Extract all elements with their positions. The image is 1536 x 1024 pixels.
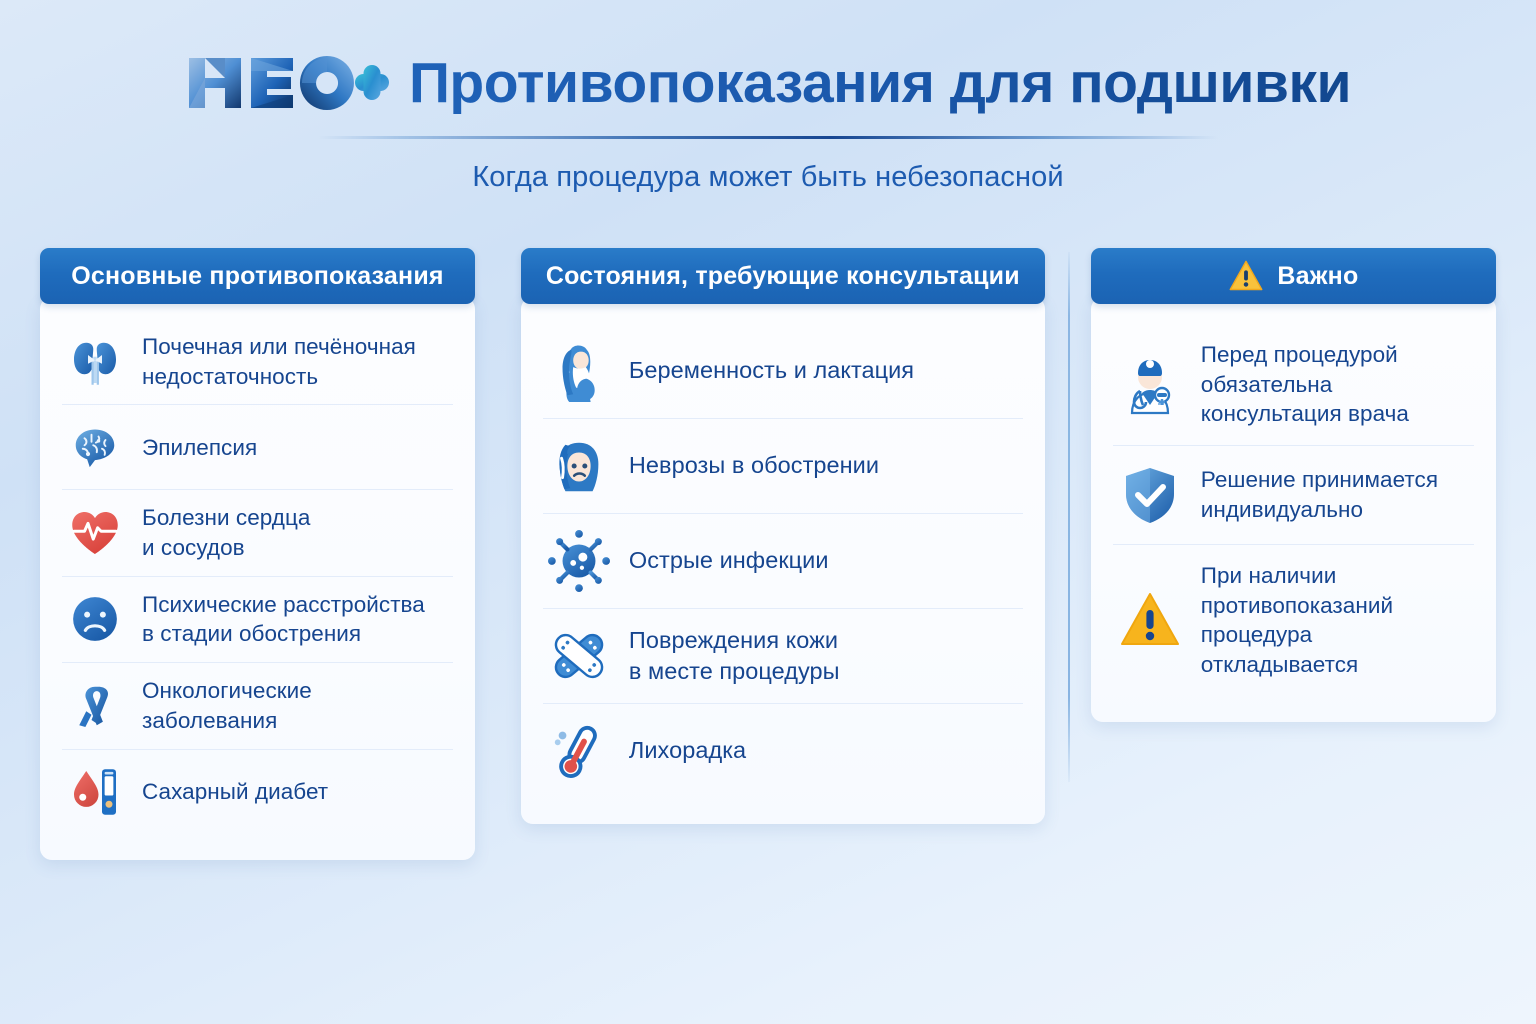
list-item[interactable]: Острые инфекции [543,514,1023,609]
list-item[interactable]: Онкологические заболевания [62,663,453,749]
warning-triangle-icon [1228,258,1264,294]
list-item-label: Перед процедурой обязательна консультаци… [1201,340,1470,429]
doctor-icon [1117,352,1183,418]
list-item[interactable]: Сахарный диабет [62,750,453,834]
list-item-label: При наличии противопоказаний процедура о… [1201,561,1470,680]
list-item-label: Повреждения кожив месте процедуры [629,625,840,687]
card-title-conditions: Состояния, требующие консультации [546,262,1020,291]
list-item-label: Сахарный диабет [142,777,328,807]
virus-icon [547,529,611,593]
card-header-important: Важно [1091,248,1496,304]
blood-drop-glucometer-icon [66,763,124,821]
sad-face-icon [66,590,124,648]
list-item-label: Беременность и лактация [629,355,914,386]
pregnant-woman-icon [547,339,611,403]
list-item[interactable]: Перед процедурой обязательна консультаци… [1113,324,1474,446]
neo-plus-logo [185,53,389,113]
warning-triangle-icon [1117,587,1183,653]
title-divider [318,136,1218,139]
list-item[interactable]: Повреждения кожив месте процедуры [543,609,1023,704]
list-item[interactable]: Болезни сердцаи сосудов [62,490,453,576]
shield-check-icon [1117,462,1183,528]
card-body-conditions: Беременность и лактация Неврозы в обостр… [521,297,1045,824]
brain-icon [66,418,124,476]
card-title-main: Основные противопоказания [71,262,443,291]
page-title: Противопоказания для подшивки [409,50,1351,116]
list-item-label: Лихорадка [629,735,746,766]
list-item-label: Неврозы в обострении [629,450,879,481]
list-item[interactable]: Неврозы в обострении [543,419,1023,514]
card-body-important: Перед процедурой обязательна консультаци… [1091,297,1496,722]
list-item-label: Решение принимаетсяиндивидуально [1201,465,1438,524]
list-item[interactable]: Лихорадка [543,704,1023,798]
awareness-ribbon-icon [66,677,124,735]
list-item-label: Эпилепсия [142,433,257,463]
bandage-icon [547,624,611,688]
card-title-important: Важно [1277,262,1358,291]
list-item-label: Почечная или печёночная недостаточность [142,332,449,391]
column-gap-2 [1045,248,1091,860]
page-subtitle: Когда процедура может быть небезопасной [0,161,1536,194]
sad-woman-icon [547,434,611,498]
card-conditions-requiring-consultation: Состояния, требующие консультации Береме… [521,248,1045,824]
list-item[interactable]: Почечная или печёночная недостаточность [62,319,453,405]
heart-pulse-icon [66,504,124,562]
card-header-main: Основные противопоказания [40,248,475,304]
list-item-label: Онкологические заболевания [142,676,449,735]
card-body-main: Почечная или печёночная недостаточность … [40,297,475,860]
title-row: Противопоказания для подшивки [0,44,1536,122]
list-item[interactable]: Психические расстройствав стадии обостре… [62,577,453,663]
list-item-label: Острые инфекции [629,545,829,576]
vertical-divider [1068,252,1070,782]
cards-board: Основные противопоказания Почечная или п… [40,248,1496,860]
card-important: Важно [1091,248,1496,722]
list-item[interactable]: Решение принимаетсяиндивидуально [1113,446,1474,545]
list-item[interactable]: Беременность и лактация [543,324,1023,419]
kidneys-icon [66,333,124,391]
page-header: Противопоказания для подшивки Когда проц… [0,0,1536,194]
column-gap-1 [475,248,521,860]
card-main-contraindications: Основные противопоказания Почечная или п… [40,248,475,860]
card-header-conditions: Состояния, требующие консультации [521,248,1045,304]
list-item[interactable]: Эпилепсия [62,405,453,490]
list-item-label: Болезни сердцаи сосудов [142,503,310,562]
thermometer-icon [547,719,611,783]
list-item-label: Психические расстройствав стадии обостре… [142,590,425,649]
list-item[interactable]: При наличии противопоказаний процедура о… [1113,545,1474,696]
